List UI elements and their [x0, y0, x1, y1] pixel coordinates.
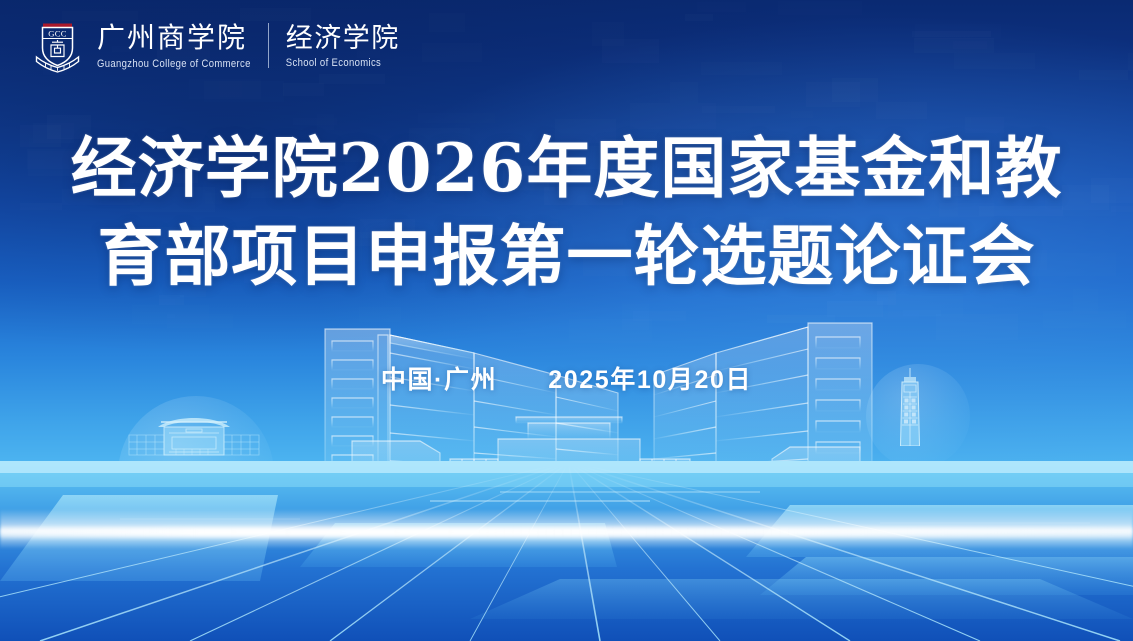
school-name-cn: 经济学院: [286, 24, 400, 53]
school-wordmark: 经济学院 School of Economics: [286, 24, 400, 68]
svg-text:GCC: GCC: [48, 28, 67, 38]
university-name-cn: 广州商学院: [97, 23, 251, 53]
school-name-en: School of Economics: [286, 57, 400, 69]
horizon-core-line: [0, 528, 1133, 537]
vertical-divider-icon: [268, 23, 269, 68]
event-date: 2025年10月20日: [548, 366, 752, 394]
brand-header: GCC 广州商学院 Guangzhou: [34, 17, 400, 75]
university-name-en: Guangzhou College of Commerce: [97, 58, 251, 70]
perspective-ground-grid-icon: [0, 461, 1133, 641]
event-subtitle: 中国·广州 2025年10月20日: [0, 360, 1133, 396]
wordmark: 广州商学院 Guangzhou College of Commerce 经济学院…: [97, 23, 400, 68]
university-wordmark: 广州商学院 Guangzhou College of Commerce: [97, 23, 251, 68]
banner-stage: GCC 广州商学院 Guangzhou: [0, 0, 1133, 641]
event-location: 中国·广州: [381, 366, 497, 394]
gcc-shield-crest-icon: GCC: [34, 17, 81, 75]
